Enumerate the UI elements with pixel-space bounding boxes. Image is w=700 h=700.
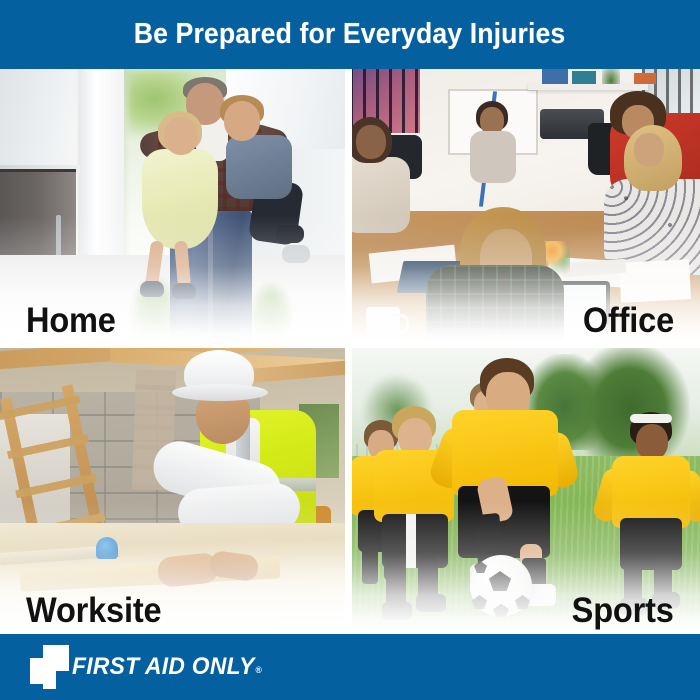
- home-girl-head: [164, 117, 198, 155]
- grid-cell-worksite[interactable]: Worksite: [0, 348, 345, 631]
- scene-grid: Home: [0, 69, 700, 631]
- office-person-patterned-blouse-head: [634, 133, 664, 167]
- grid-cell-home[interactable]: Home: [0, 69, 345, 341]
- ball-panel: [489, 571, 511, 591]
- player-headband: [630, 414, 672, 423]
- cell-label-home: Home: [26, 303, 116, 338]
- home-boy-shirt: [226, 135, 292, 199]
- player-sock-left: [386, 560, 406, 608]
- grid-cell-sports[interactable]: Sports: [352, 348, 700, 631]
- office-person-foreground-plaid-shirt: [426, 265, 564, 341]
- home-cabinet-handle: [56, 215, 61, 259]
- office-storage-box-teal: [572, 71, 596, 84]
- player-head: [636, 424, 668, 460]
- first-aid-cross-icon: [30, 645, 70, 689]
- home-girl-shoe-right: [172, 283, 196, 299]
- brand-wordmark-text: FIRST AID ONLY: [72, 653, 255, 680]
- ball-panel: [493, 604, 509, 617]
- worksite-photo: [0, 348, 345, 631]
- cell-label-worksite: Worksite: [26, 593, 161, 628]
- worksite-hard-hat-brim: [172, 384, 268, 401]
- poster-header: Be Prepared for Everyday Injuries: [0, 0, 700, 69]
- office-papers-right: [619, 259, 691, 303]
- promo-poster: Be Prepared for Everyday Injuries: [0, 0, 700, 700]
- office-storage-box-blue: [542, 69, 568, 84]
- page-title: Be Prepared for Everyday Injuries: [134, 18, 566, 51]
- office-coffee-mug: [366, 307, 400, 337]
- brand-wordmark: FIRST AID ONLY®: [72, 653, 261, 681]
- grid-cell-office[interactable]: Office: [352, 69, 700, 341]
- player-shoe-left: [382, 602, 412, 620]
- home-girl-dress: [142, 149, 218, 249]
- cell-label-office: Office: [583, 303, 674, 338]
- home-plant-secondary: [249, 283, 293, 337]
- office-person-left-head: [356, 125, 386, 159]
- sports-photo: [352, 348, 700, 631]
- home-girl-shoe-left: [140, 281, 164, 297]
- home-boy-shoe-left: [276, 225, 304, 243]
- office-shelf-plant: [602, 69, 620, 84]
- worksite-blue-container: [96, 537, 118, 559]
- poster-footer: FIRST AID ONLY®: [0, 634, 700, 700]
- office-person-left-body: [352, 157, 410, 233]
- office-person-back-body: [470, 131, 516, 183]
- soccer-ball: [470, 555, 532, 617]
- registered-trademark-icon: ®: [256, 665, 263, 675]
- home-boy-head: [224, 101, 260, 141]
- home-boy-shoe-right: [282, 245, 310, 263]
- office-shelf-pot: [634, 73, 656, 84]
- sports-player-right: [600, 412, 700, 602]
- office-shelf: [528, 83, 648, 90]
- cell-label-sports: Sports: [572, 593, 674, 628]
- brand-logo[interactable]: FIRST AID ONLY®: [30, 644, 271, 690]
